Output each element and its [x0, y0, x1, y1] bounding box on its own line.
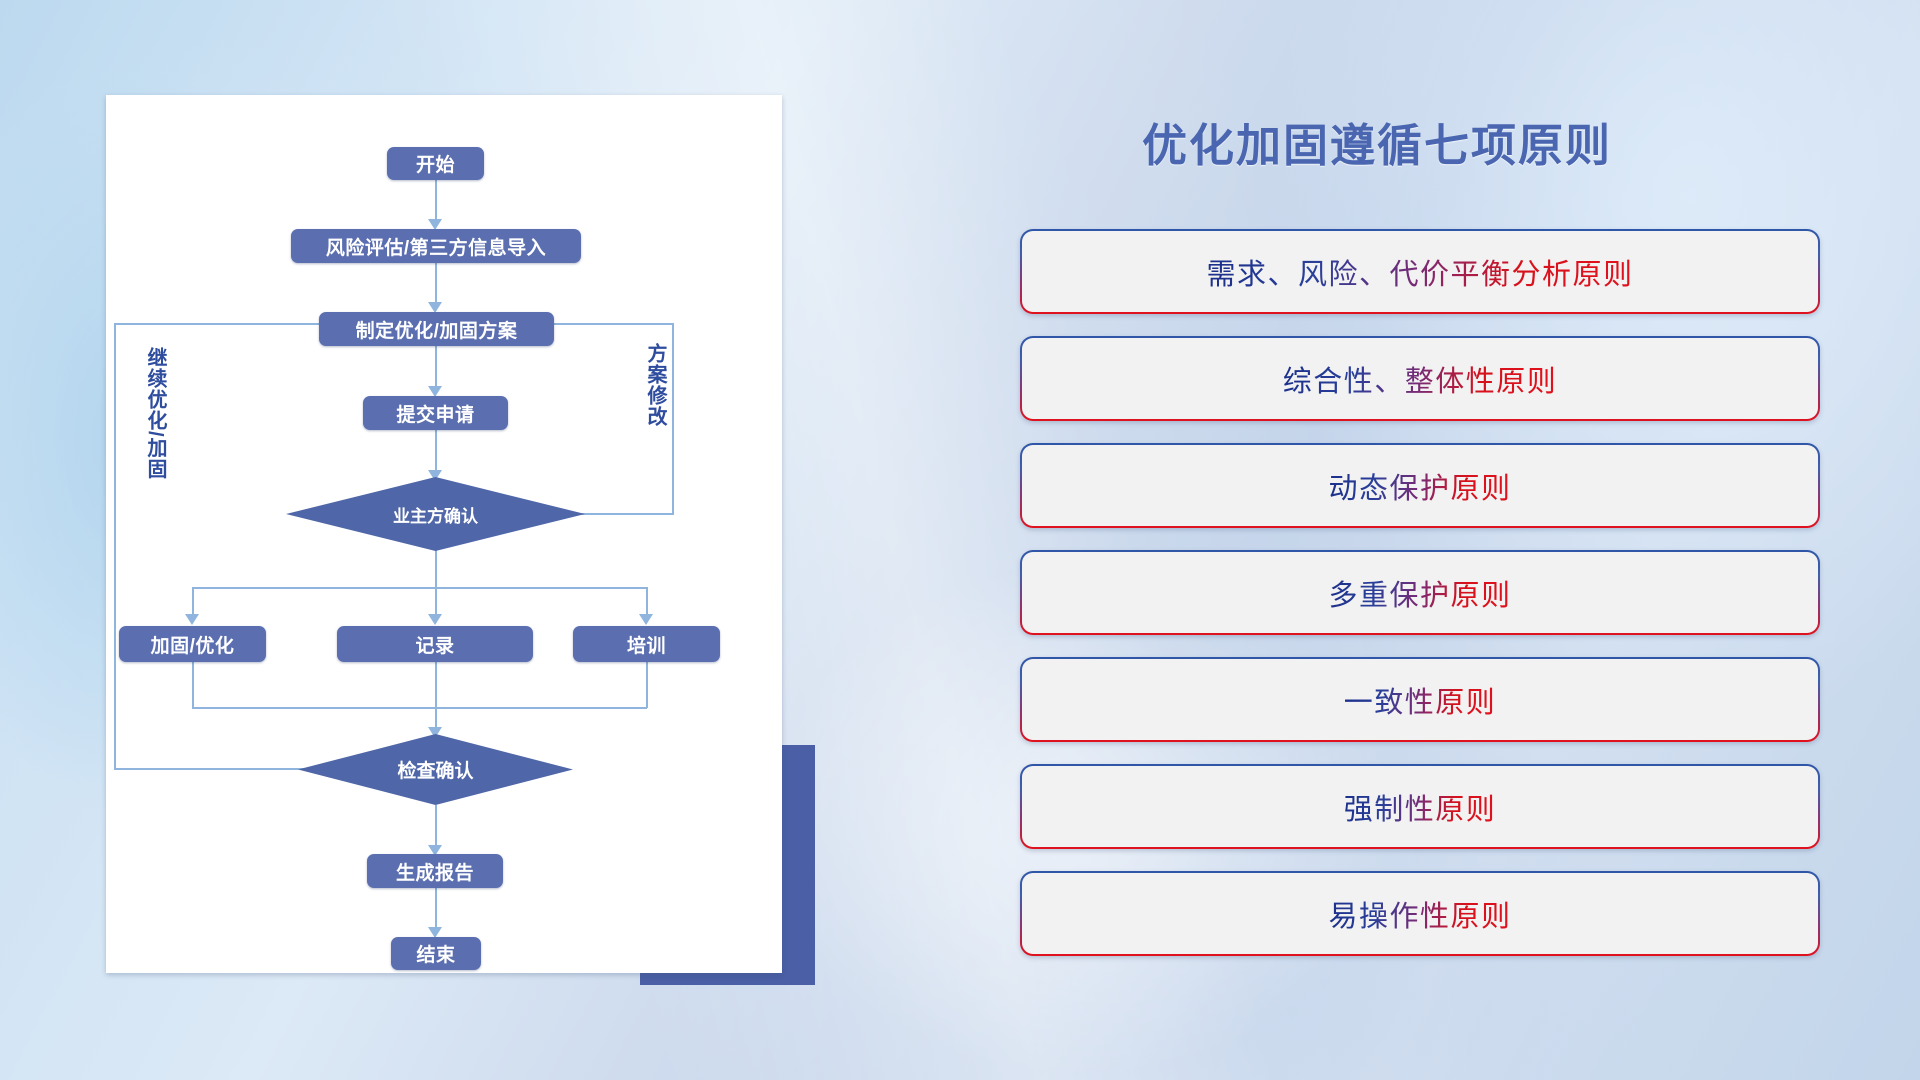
principle-card-5-body: 一致性原则 [1022, 659, 1818, 740]
connector-risk-to-plan [435, 262, 437, 306]
flowchart-card: 继续优化/加固 方案修改 开始 风险评估/第三方信息导入 制定优化/加固方案 提… [106, 95, 782, 973]
principle-card-3-label: 动态保护原则 [1328, 465, 1511, 507]
flowchart-canvas: 继续优化/加固 方案修改 开始 风险评估/第三方信息导入 制定优化/加固方案 提… [106, 95, 782, 973]
principle-card-4-body: 多重保护原则 [1022, 552, 1818, 633]
principle-card-6-body: 强制性原则 [1022, 766, 1818, 847]
connector-owner-fanout-bus [192, 587, 647, 589]
arrowhead-reinforce [185, 614, 199, 625]
principle-card-3[interactable]: 动态保护原则 [1020, 443, 1820, 528]
connector-record-to-check [435, 661, 437, 733]
principle-card-6[interactable]: 强制性原则 [1020, 764, 1820, 849]
principle-card-2[interactable]: 综合性、整体性原则 [1020, 336, 1820, 421]
flow-node-check-confirm-label: 检查确认 [397, 756, 473, 783]
principle-card-7-label: 易操作性原则 [1328, 893, 1511, 935]
principle-card-5[interactable]: 一致性原则 [1020, 657, 1820, 742]
flow-node-reinforce-optimize-label: 加固/优化 [151, 631, 235, 658]
connector-start-to-risk [435, 179, 437, 223]
principle-card-4-label: 多重保护原则 [1328, 572, 1511, 614]
connector-training-down [646, 661, 648, 708]
flow-node-training[interactable]: 培训 [573, 626, 720, 662]
principles-list: 需求、风险、代价平衡分析原则 综合性、整体性原则 动态保护原则 多重保护原则 一… [1020, 229, 1820, 978]
arrowhead-record [428, 614, 442, 625]
principle-card-3-body: 动态保护原则 [1022, 445, 1818, 526]
connector-check-to-report [435, 805, 437, 849]
principle-card-2-label: 综合性、整体性原则 [1283, 358, 1558, 400]
connector-left-loop-riser [114, 323, 116, 770]
flow-node-check-confirm[interactable]: 检查确认 [298, 734, 573, 805]
principle-card-4[interactable]: 多重保护原则 [1020, 550, 1820, 635]
flow-node-plan[interactable]: 制定优化/加固方案 [319, 312, 554, 346]
flow-node-training-label: 培训 [627, 631, 666, 658]
principle-card-1-label: 需求、风险、代价平衡分析原则 [1206, 251, 1633, 293]
flow-node-submit-application-label: 提交申请 [396, 400, 474, 427]
principle-card-1-body: 需求、风险、代价平衡分析原则 [1022, 231, 1818, 312]
connector-merge-bus [192, 707, 647, 709]
flow-node-generate-report-label: 生成报告 [396, 858, 474, 885]
connector-report-to-end [435, 888, 437, 930]
flow-node-owner-confirm-label: 业主方确认 [393, 502, 478, 527]
principles-panel: 优化加固遵循七项原则 需求、风险、代价平衡分析原则 综合性、整体性原则 动态保护… [1020, 95, 1850, 995]
flow-node-end[interactable]: 结束 [391, 937, 481, 970]
connector-plan-to-submit [435, 345, 437, 391]
flow-node-end-label: 结束 [416, 940, 455, 967]
connector-left-loop-top [114, 323, 351, 325]
connector-right-loop-riser [672, 323, 674, 514]
flow-node-record-label: 记录 [415, 631, 454, 658]
flow-node-record[interactable]: 记录 [337, 626, 533, 662]
edge-label-plan-revision: 方案修改 [644, 343, 665, 427]
flow-node-risk-assessment[interactable]: 风险评估/第三方信息导入 [291, 229, 581, 263]
flow-node-submit-application[interactable]: 提交申请 [363, 396, 508, 430]
principles-title: 优化加固遵循七项原则 [1142, 109, 1612, 174]
flow-node-reinforce-optimize[interactable]: 加固/优化 [119, 626, 266, 662]
principle-card-7-body: 易操作性原则 [1022, 873, 1818, 954]
principle-card-5-label: 一致性原则 [1344, 679, 1497, 721]
flow-node-plan-label: 制定优化/加固方案 [356, 316, 518, 343]
connector-reinforce-down [192, 661, 194, 708]
flow-node-risk-assessment-label: 风险评估/第三方信息导入 [326, 233, 546, 260]
flow-node-start[interactable]: 开始 [387, 147, 484, 180]
flow-node-owner-confirm[interactable]: 业主方确认 [286, 477, 585, 551]
connector-owner-fanout-stem [435, 550, 437, 588]
edge-label-continue-optimize: 继续优化/加固 [144, 347, 165, 480]
flow-node-start-label: 开始 [416, 150, 455, 177]
principle-card-7[interactable]: 易操作性原则 [1020, 871, 1820, 956]
principle-card-2-body: 综合性、整体性原则 [1022, 338, 1818, 419]
principle-card-1[interactable]: 需求、风险、代价平衡分析原则 [1020, 229, 1820, 314]
arrowhead-training [639, 614, 653, 625]
flow-node-generate-report[interactable]: 生成报告 [367, 854, 503, 888]
principle-card-6-label: 强制性原则 [1344, 786, 1497, 828]
